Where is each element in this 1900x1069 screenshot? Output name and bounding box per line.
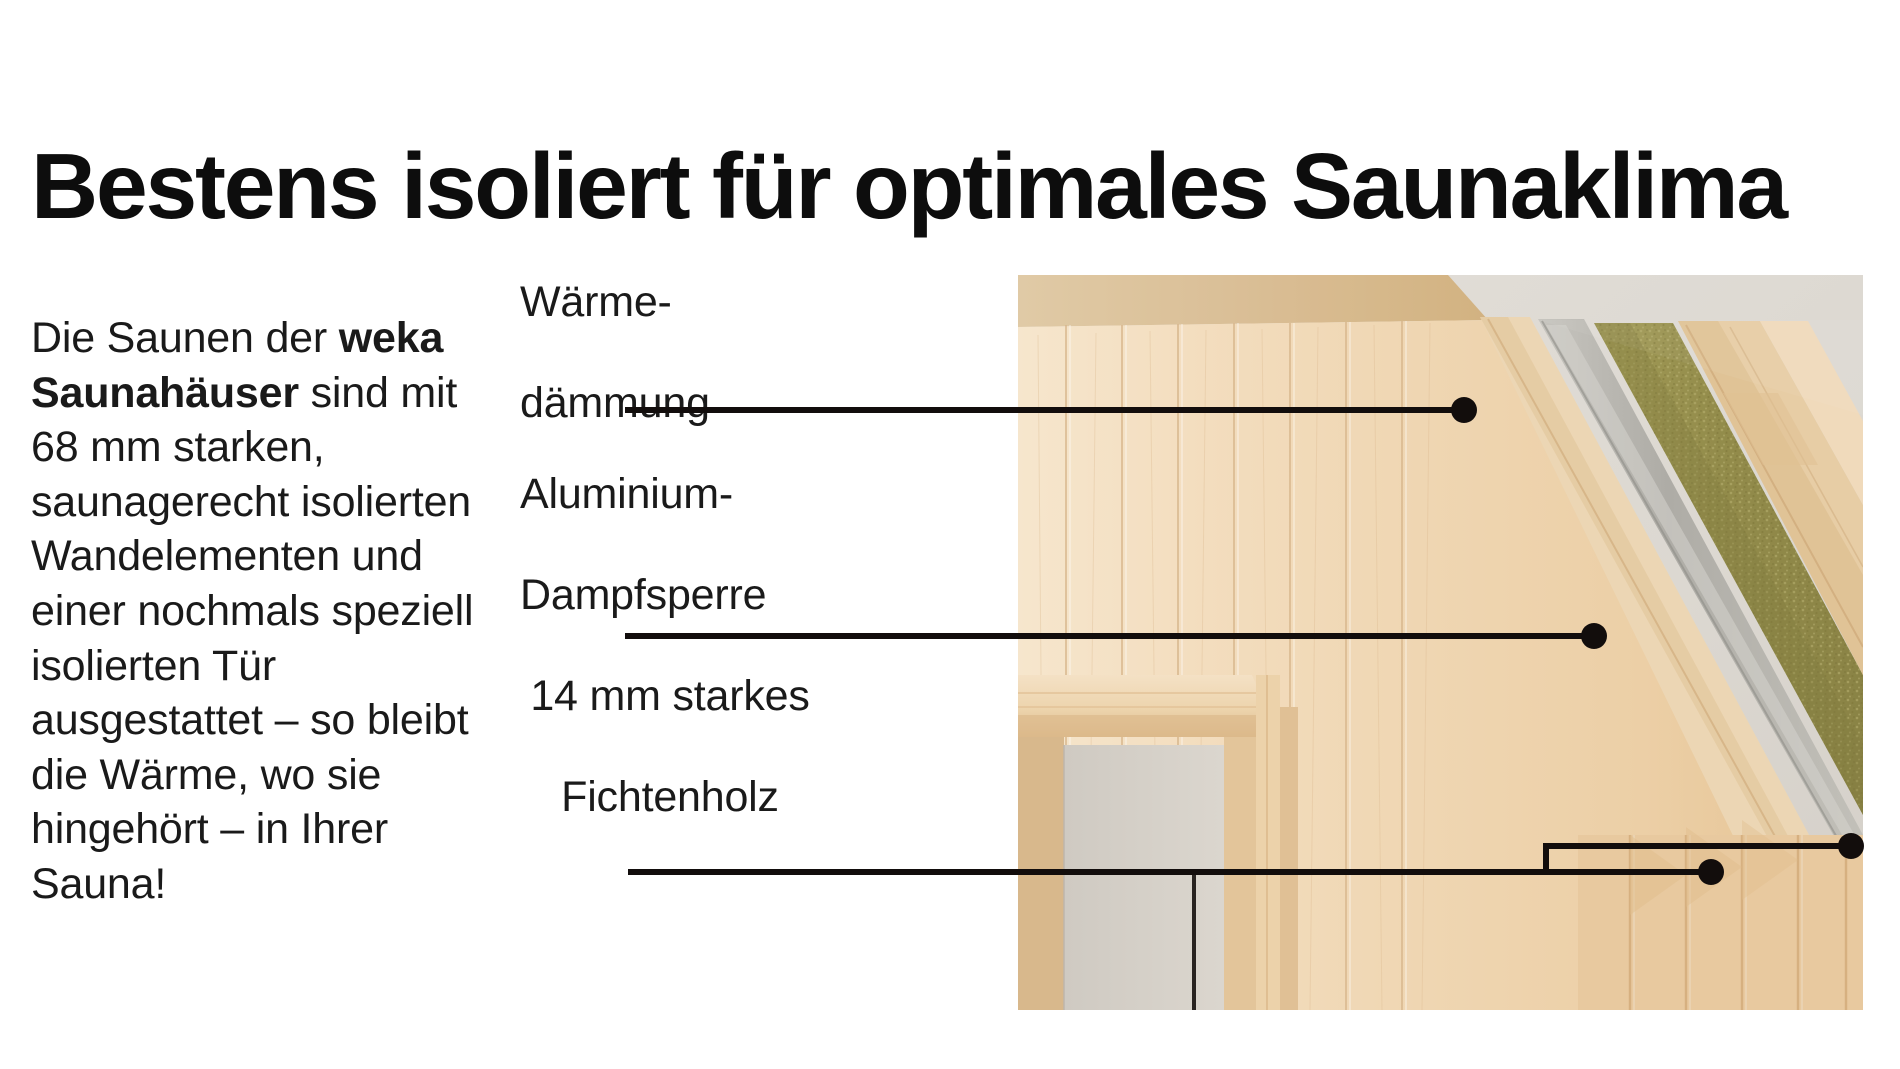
callout-3-branch-anchor-dot [1838,833,1864,859]
body-text-rest: sind mit 68 mm starken, saunagerecht iso… [31,369,473,908]
callout-1-leader-line [625,407,1468,413]
page-title: Bestens isoliert für optimales Saunaklim… [31,140,1871,233]
callout-3-branch-line [1543,843,1855,849]
callout-2-line-1: Aluminium- [520,469,766,520]
callout-1-anchor-dot [1451,397,1477,423]
callout-3-anchor-dot [1698,859,1724,885]
door-frame-gap-line [1192,869,1196,1010]
callout-2-leader-line [625,633,1597,639]
callout-1-line-1: Wärme- [520,277,710,328]
callout-3-line-2: Fichtenholz [520,772,820,823]
callout-3-leader-line [628,869,1713,875]
body-paragraph: Die Saunen der weka Saunahäuser sind mit… [31,311,501,912]
sauna-photo-illustration [1018,275,1863,1010]
callout-label-fichtenholz: 14 mm starkes Fichtenholz [520,620,820,874]
sauna-wall-cross-section-photo [1018,275,1863,1010]
body-text-lead: Die Saunen der [31,314,339,362]
infographic-page: Bestens isoliert für optimales Saunaklim… [0,0,1900,1069]
callout-2-anchor-dot [1581,623,1607,649]
callout-3-line-1: 14 mm starkes [520,671,820,722]
callout-2-line-2: Dampfsperre [520,570,766,621]
